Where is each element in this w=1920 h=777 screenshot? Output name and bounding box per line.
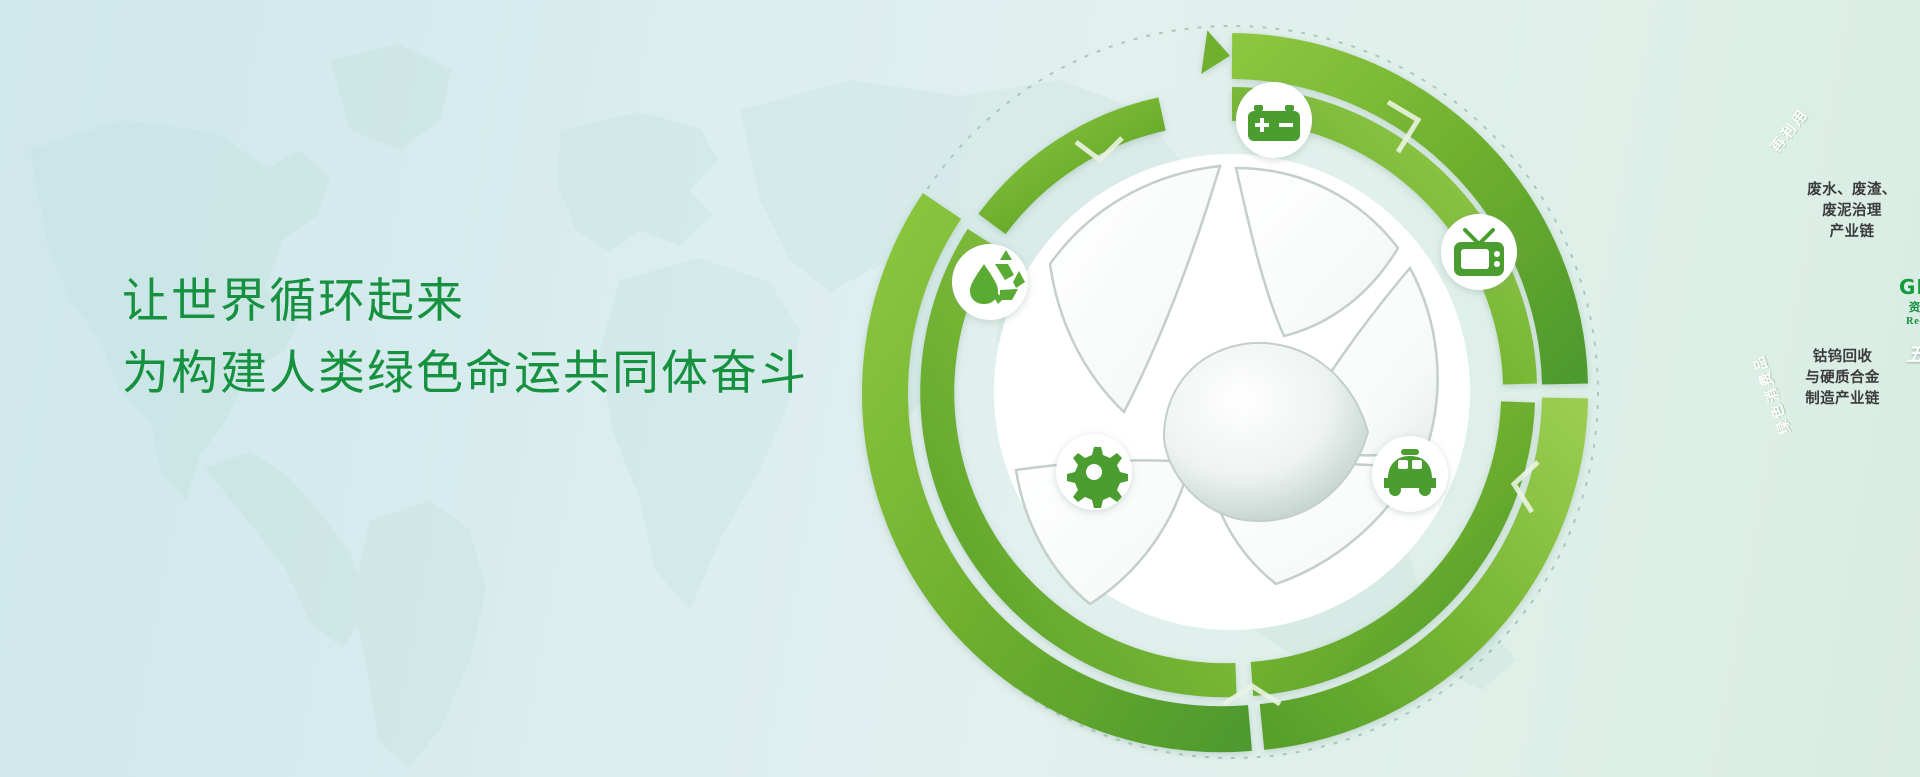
car-icon: [1372, 436, 1448, 512]
center-caption: 五大产业链: [1884, 340, 1920, 367]
headline: 让世界循环起来 为构建人类绿色命运共同体奋斗: [122, 266, 808, 410]
gem-logo-latin: GEM: [1899, 277, 1920, 297]
gem-logo: GEM 格林美 资源有限 循环无限 Recycling for future!: [1884, 276, 1920, 327]
hero-banner: 让世界循环起来 为构建人类绿色命运共同体奋斗: [0, 0, 1920, 777]
recycle-drop-icon: [952, 244, 1028, 320]
headline-line-2: 为构建人类绿色命运共同体奋斗: [122, 338, 808, 410]
headline-line-1: 让世界循环起来: [122, 266, 808, 338]
battery-icon: [1236, 82, 1312, 158]
ring-label-reuse: 再利用: [1766, 104, 1813, 157]
gem-slogan-cn: 资源有限 循环无限: [1884, 299, 1920, 315]
television-icon: [1441, 214, 1517, 290]
gem-logo-wordmark: GEM 格林美: [1884, 276, 1920, 298]
gear-icon: [1056, 434, 1132, 510]
five-industry-chain-diagram: 废水、废渣、 废泥治理 产业链 废旧电池回收 与动力电池材 料制造产业链 电子废…: [832, 0, 1632, 777]
segment-label-water-slag-sludge: 废水、废渣、 废泥治理 产业链: [1787, 180, 1917, 243]
gem-slogan-en: Recycling for future!: [1884, 316, 1920, 327]
